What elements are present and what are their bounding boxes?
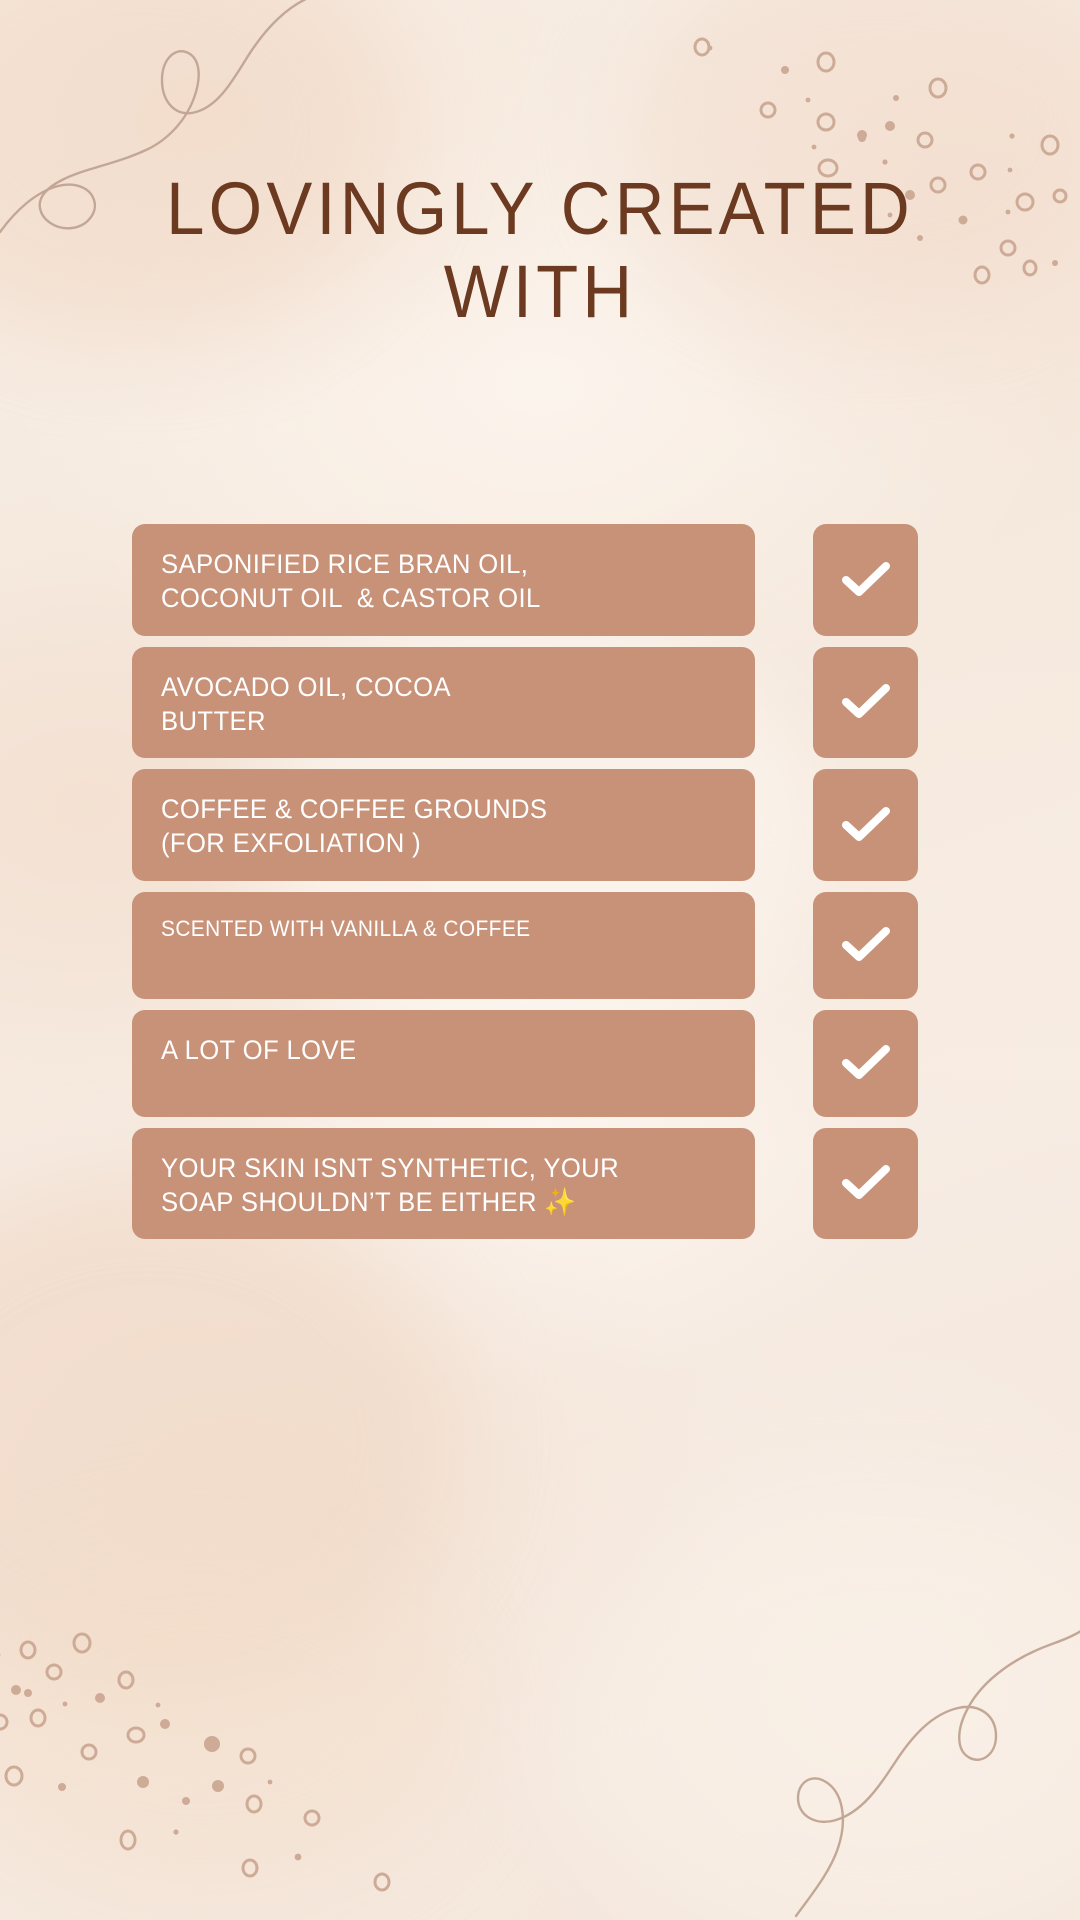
- check-icon: [841, 805, 891, 845]
- dot-cluster-bottom-left: [0, 1560, 430, 1920]
- ingredient-label: SCENTED WITH VANILLA & COFFEE: [161, 915, 530, 943]
- check-icon: [841, 925, 891, 965]
- check-icon: [841, 560, 891, 600]
- list-item[interactable]: YOUR SKIN ISNT SYNTHETIC, YOUR SOAP SHOU…: [132, 1128, 918, 1240]
- watercolor-wash: [0, 1180, 460, 1700]
- ingredient-list: SAPONIFIED RICE BRAN OIL, COCONUT OIL & …: [132, 524, 918, 1239]
- checkbox-checked[interactable]: [813, 1128, 918, 1240]
- title-block: LOVINGLY CREATED WITH: [0, 168, 1080, 334]
- squiggle-line-bottom-right: [790, 1620, 1080, 1920]
- ingredient-label: AVOCADO OIL, COCOA BUTTER: [161, 670, 451, 739]
- checkbox-checked[interactable]: [813, 1010, 918, 1117]
- ingredient-label: A LOT OF LOVE: [161, 1033, 356, 1067]
- check-icon: [841, 1043, 891, 1083]
- ingredient-card[interactable]: COFFEE & COFFEE GROUNDS (FOR EXFOLIATION…: [132, 769, 755, 881]
- check-icon: [841, 682, 891, 722]
- list-item[interactable]: SCENTED WITH VANILLA & COFFEE: [132, 892, 918, 999]
- checkbox-checked[interactable]: [813, 769, 918, 881]
- watercolor-wash: [560, 1500, 1080, 1920]
- ingredient-card[interactable]: SAPONIFIED RICE BRAN OIL, COCONUT OIL & …: [132, 524, 755, 636]
- ingredient-label: SAPONIFIED RICE BRAN OIL, COCONUT OIL & …: [161, 547, 541, 616]
- ingredient-card[interactable]: SCENTED WITH VANILLA & COFFEE: [132, 892, 755, 999]
- check-icon: [841, 1163, 891, 1203]
- list-item[interactable]: SAPONIFIED RICE BRAN OIL, COCONUT OIL & …: [132, 524, 918, 636]
- checkbox-checked[interactable]: [813, 524, 918, 636]
- ingredient-card[interactable]: A LOT OF LOVE: [132, 1010, 755, 1117]
- ingredient-label: YOUR SKIN ISNT SYNTHETIC, YOUR SOAP SHOU…: [161, 1151, 619, 1220]
- ingredient-card[interactable]: AVOCADO OIL, COCOA BUTTER: [132, 647, 755, 759]
- ingredient-card[interactable]: YOUR SKIN ISNT SYNTHETIC, YOUR SOAP SHOU…: [132, 1128, 755, 1240]
- checkbox-checked[interactable]: [813, 892, 918, 999]
- list-item[interactable]: COFFEE & COFFEE GROUNDS (FOR EXFOLIATION…: [132, 769, 918, 881]
- page-title: LOVINGLY CREATED WITH: [38, 168, 1042, 334]
- ingredient-label: COFFEE & COFFEE GROUNDS (FOR EXFOLIATION…: [161, 792, 547, 861]
- poster-canvas: LOVINGLY CREATED WITH SAPONIFIED RICE BR…: [0, 0, 1080, 1920]
- checkbox-checked[interactable]: [813, 647, 918, 759]
- list-item[interactable]: A LOT OF LOVE: [132, 1010, 918, 1117]
- watercolor-wash: [0, 1540, 460, 1900]
- list-item[interactable]: AVOCADO OIL, COCOA BUTTER: [132, 647, 918, 759]
